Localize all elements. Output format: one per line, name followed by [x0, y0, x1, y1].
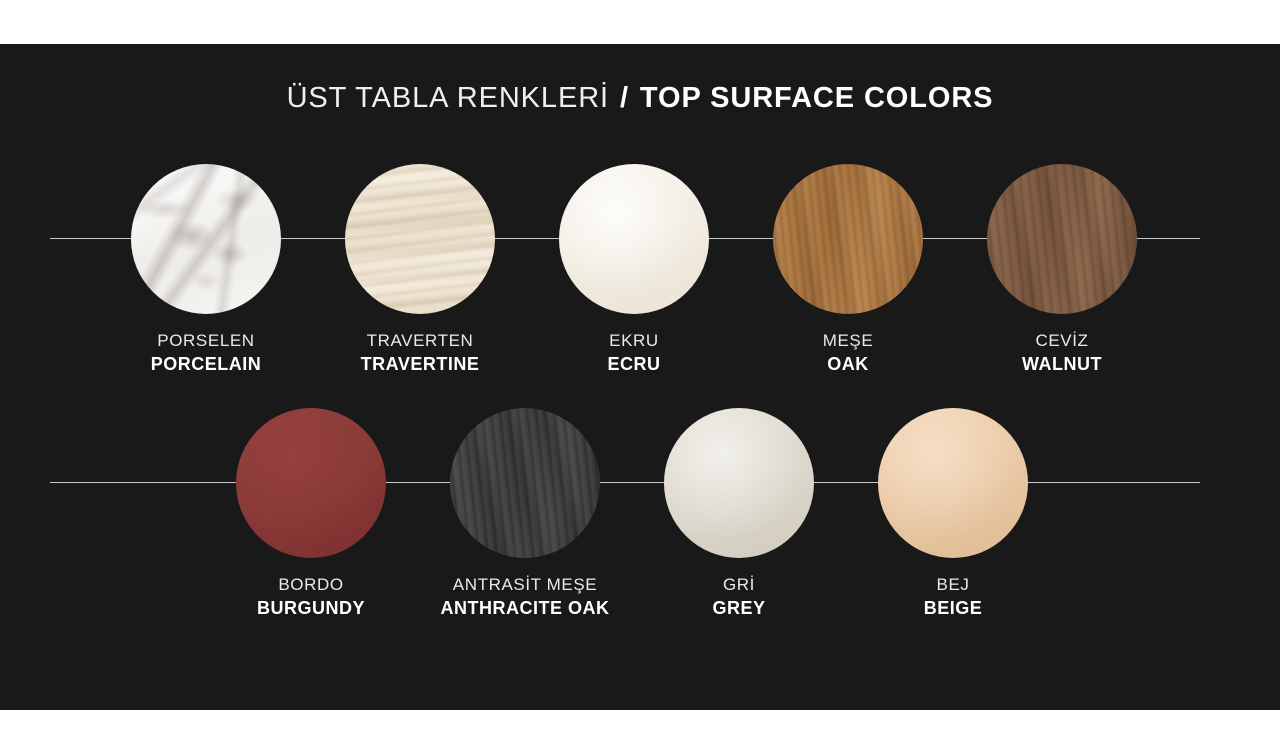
swatch-burgundy[interactable] [236, 408, 386, 558]
label-walnut: CEVİZ WALNUT [932, 332, 1192, 373]
swatch-grey[interactable] [664, 408, 814, 558]
label-walnut-turkish: CEVİZ [932, 332, 1192, 349]
swatch-row-1: PORSELEN PORCELAIN TRAVERTEN TRAVERTINE … [0, 164, 1280, 394]
swatch-oak[interactable] [773, 164, 923, 314]
page-root: ÜST TABLA RENKLERİ / TOP SURFACE COLORS [0, 0, 1280, 755]
swatch-anthracite-oak[interactable] [450, 408, 600, 558]
swatch-oak-disc[interactable] [773, 164, 923, 314]
swatch-porcelain[interactable] [131, 164, 281, 314]
swatch-ecru-disc[interactable] [559, 164, 709, 314]
swatch-porcelain-disc[interactable] [131, 164, 281, 314]
page-title-separator: / [618, 82, 631, 114]
row-2-labels: BORDO BURGUNDY ANTRASİT MEŞE ANTHRACITE … [0, 576, 1280, 646]
label-beige: BEJ BEIGE [823, 576, 1083, 617]
swatch-ecru[interactable] [559, 164, 709, 314]
swatch-beige-disc[interactable] [878, 408, 1028, 558]
swatch-beige[interactable] [878, 408, 1028, 558]
swatch-walnut[interactable] [987, 164, 1137, 314]
row-1-swatch-strip [0, 164, 1280, 314]
page-title: ÜST TABLA RENKLERİ / TOP SURFACE COLORS [0, 82, 1280, 115]
row-2-swatch-strip [0, 408, 1280, 558]
swatch-travertine-disc[interactable] [345, 164, 495, 314]
color-board-panel: ÜST TABLA RENKLERİ / TOP SURFACE COLORS [0, 44, 1280, 710]
label-beige-turkish: BEJ [823, 576, 1083, 593]
label-walnut-english: WALNUT [932, 355, 1192, 373]
swatch-walnut-disc[interactable] [987, 164, 1137, 314]
page-title-turkish: ÜST TABLA RENKLERİ [287, 82, 609, 114]
swatch-travertine[interactable] [345, 164, 495, 314]
swatch-row-2: BORDO BURGUNDY ANTRASİT MEŞE ANTHRACITE … [0, 408, 1280, 638]
swatch-anthracite-oak-disc[interactable] [450, 408, 600, 558]
swatch-grey-disc[interactable] [664, 408, 814, 558]
label-beige-english: BEIGE [823, 599, 1083, 617]
page-title-english: TOP SURFACE COLORS [640, 82, 994, 114]
row-1-labels: PORSELEN PORCELAIN TRAVERTEN TRAVERTINE … [0, 332, 1280, 402]
swatch-burgundy-disc[interactable] [236, 408, 386, 558]
